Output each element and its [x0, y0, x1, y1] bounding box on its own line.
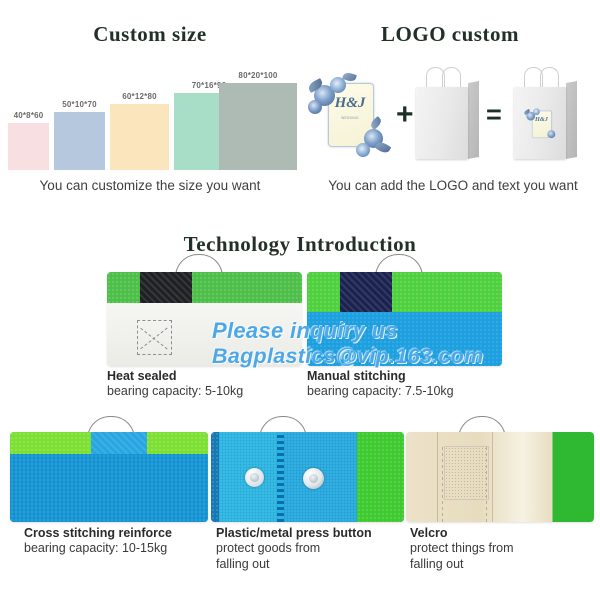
blue-reinforce-patch — [91, 432, 147, 454]
rose-icon — [308, 100, 322, 114]
bag-printed-logo: H&J — [523, 105, 537, 121]
heat-seal-stitch-pattern — [137, 320, 172, 355]
velcro-patch — [444, 446, 489, 500]
tech-detail: bearing capacity: 5-10kg — [107, 384, 243, 400]
navy-stitch-patch — [340, 272, 392, 312]
velcro-photo — [406, 432, 594, 522]
green-top-strip — [307, 272, 502, 312]
stitch-line — [277, 432, 284, 522]
bar-item: 80*20*100 — [219, 83, 297, 170]
tech-panel-manual-stitching: Manual stitching bearing capacity: 7.5-1… — [307, 272, 502, 402]
tech-detail: bearing capacity: 10-15kg — [24, 541, 167, 557]
bar-rect — [8, 123, 49, 170]
printed-bag-image: H&J — [514, 65, 578, 161]
bar-label: 80*20*100 — [238, 71, 277, 80]
bar-rect — [110, 104, 169, 170]
tech-detail: protect things from — [410, 541, 514, 557]
tech-detail-2: falling out — [410, 557, 464, 573]
size-bar-chart: 40*8*60 50*10*70 60*12*80 70*16*90 80*20… — [0, 60, 300, 170]
velcro-stitch-line — [442, 446, 443, 522]
plain-bag-image — [416, 65, 480, 161]
rose-icon — [547, 130, 555, 138]
rose-icon — [533, 108, 540, 115]
tech-detail: bearing capacity: 7.5-10kg — [307, 384, 454, 400]
bar-item: 50*10*70 — [54, 112, 105, 170]
manual-stitching-photo — [307, 272, 502, 366]
plus-operator: + — [396, 100, 414, 130]
green-top-strip — [107, 272, 302, 303]
tech-name: Heat sealed — [107, 368, 176, 384]
logo-custom-row: H&J WEDDING + = — [300, 55, 600, 175]
custom-size-title: Custom size — [0, 22, 300, 47]
cross-stitching-photo — [10, 432, 208, 522]
bag-front-panel — [416, 87, 468, 159]
bar-rect — [219, 83, 297, 170]
tech-detail-2: falling out — [216, 557, 270, 573]
floral-logo-emblem: H&J WEDDING — [306, 69, 392, 161]
press-button-photo — [211, 432, 404, 522]
tech-panel-velcro: Velcro protect things from falling out — [406, 432, 596, 582]
bar-label: 40*8*60 — [14, 111, 44, 120]
plastic-press-button-icon — [245, 468, 264, 487]
bar-label: 60*12*80 — [122, 92, 157, 101]
bar-rect — [54, 112, 105, 170]
tech-name: Velcro — [410, 525, 448, 541]
tech-name: Manual stitching — [307, 368, 406, 384]
tech-name: Plastic/metal press button — [216, 525, 372, 541]
dark-blue-edge — [211, 432, 219, 522]
tech-panel-heat-sealed: Heat sealed bearing capacity: 5-10kg — [107, 272, 302, 402]
tech-name: Cross stitching reinforce — [24, 525, 172, 541]
bar-label: 50*10*70 — [62, 100, 97, 109]
dark-seal-patch — [140, 272, 192, 303]
rose-icon — [356, 143, 370, 157]
leaf-icon — [375, 140, 392, 155]
fabric-seam — [437, 432, 438, 522]
logo-custom-title: LOGO custom — [300, 22, 600, 47]
velcro-stitch-line — [486, 446, 487, 522]
equals-operator: = — [486, 102, 502, 129]
bar-item: 40*8*60 — [8, 123, 49, 170]
tech-panel-press-button: Plastic/metal press button protect goods… — [211, 432, 406, 582]
heat-sealed-photo — [107, 272, 302, 366]
tech-detail: protect goods from — [216, 541, 320, 557]
tech-panel-cross-stitching: Cross stitching reinforce bearing capaci… — [10, 432, 210, 582]
fabric-seam — [492, 432, 493, 522]
blue-body-panel — [307, 312, 502, 366]
custom-size-caption: You can customize the size you want — [0, 178, 300, 195]
bag-side-panel — [468, 81, 479, 159]
technology-title: Technology Introduction — [0, 232, 600, 257]
blue-body-panel — [10, 454, 208, 522]
bag-side-panel — [566, 81, 577, 159]
logo-custom-caption: You can add the LOGO and text you want — [318, 178, 588, 195]
product-infographic: Custom size 40*8*60 50*10*70 60*12*80 70… — [0, 0, 600, 600]
metal-press-button-icon — [303, 468, 324, 489]
emblem-subtext: WEDDING — [328, 116, 372, 121]
green-right-section — [357, 432, 404, 522]
bar-item: 60*12*80 — [110, 104, 169, 170]
